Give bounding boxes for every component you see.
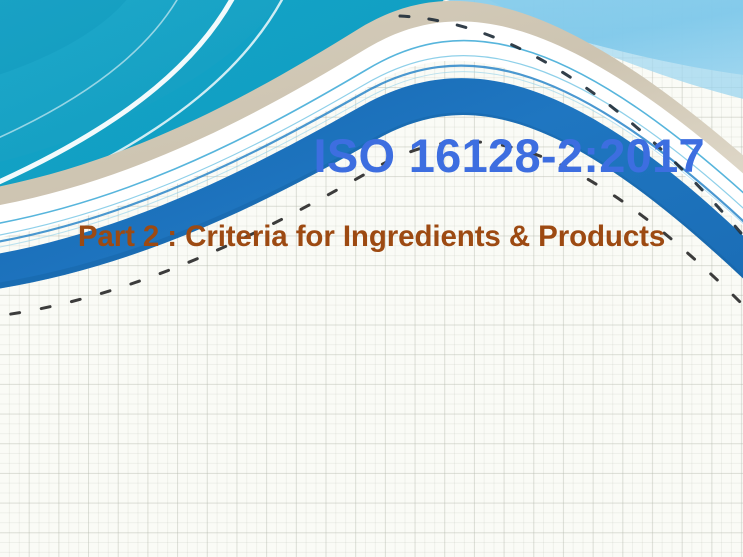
title-container: ISO 16128-2:2017 <box>0 131 705 181</box>
presentation-slide: ISO 16128-2:2017 Part 2 : Criteria for I… <box>0 0 743 557</box>
page-title: ISO 16128-2:2017 <box>313 131 705 181</box>
graph-paper-background <box>0 0 743 557</box>
subtitle-container: Part 2 : Criteria for Ingredients & Prod… <box>0 221 743 253</box>
page-subtitle: Part 2 : Criteria for Ingredients & Prod… <box>78 221 665 253</box>
